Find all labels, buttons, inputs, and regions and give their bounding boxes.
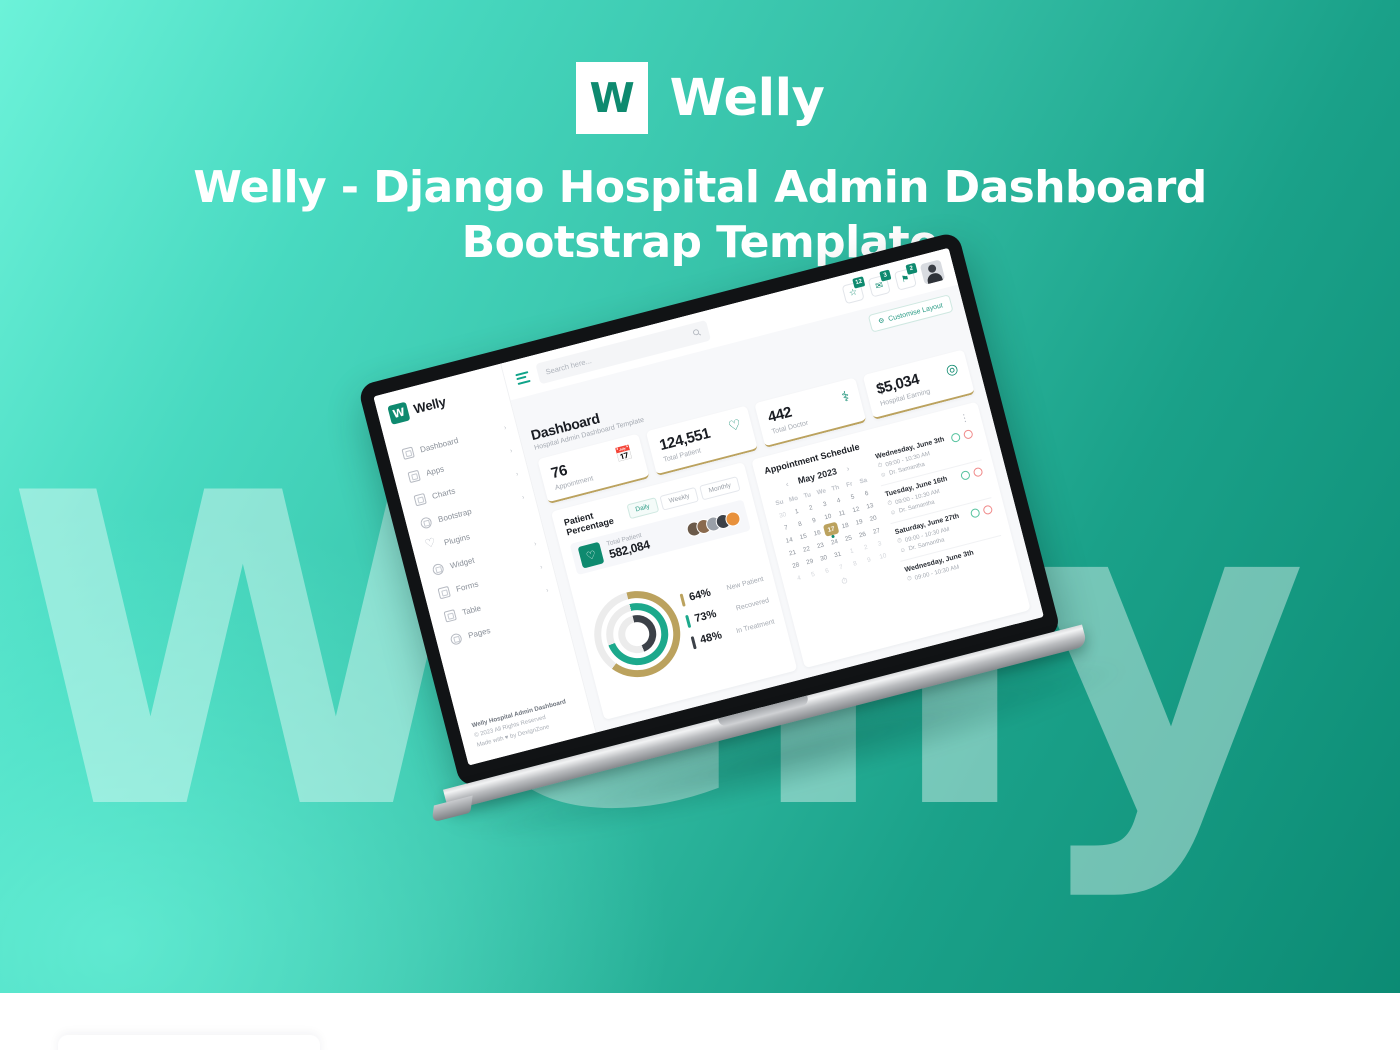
- search-placeholder: Search here...: [544, 356, 592, 377]
- chevron-left-icon[interactable]: ‹: [785, 479, 790, 488]
- chevron-right-icon: ›: [515, 471, 519, 478]
- clock-icon: ⏱: [877, 462, 883, 470]
- pages-icon: [450, 632, 463, 645]
- welly-logo-icon: W: [576, 62, 648, 134]
- calendar-day[interactable]: 4: [791, 570, 807, 585]
- tab-daily[interactable]: Daily: [626, 497, 659, 519]
- calendar-day[interactable]: 9: [861, 552, 877, 567]
- headline-line-2: Bootstrap Template: [0, 215, 1400, 270]
- chart-icon: [413, 493, 426, 506]
- bell-glyph: ☆: [848, 286, 859, 299]
- sidebar-item-label: Widget: [449, 556, 475, 571]
- chevron-right-icon: ›: [521, 494, 525, 501]
- donut-chart: [585, 582, 690, 687]
- calendar-day[interactable]: 5: [805, 567, 821, 582]
- patient-percentage-card: Patient Percentage Daily Weekly Monthly …: [551, 462, 797, 720]
- gift-icon[interactable]: ⚑ 2: [894, 267, 917, 290]
- user-icon: ☺: [890, 509, 897, 516]
- widget-icon: [431, 563, 444, 576]
- coins-icon: ◎: [944, 361, 959, 378]
- message-glyph: ✉: [874, 279, 884, 292]
- bell-icon[interactable]: ☆ 12: [841, 281, 864, 304]
- legend-value: 73%: [693, 608, 717, 625]
- avatar[interactable]: [920, 259, 946, 285]
- chevron-right-icon: ›: [509, 448, 513, 455]
- calendar-day[interactable]: 10: [875, 549, 891, 564]
- tab-weekly[interactable]: Weekly: [659, 486, 699, 510]
- sidebar-item-label: Pages: [467, 626, 491, 640]
- legend-label: Recovered: [735, 597, 770, 612]
- table-icon: [444, 609, 457, 622]
- sidebar-item-label: Bootstrap: [437, 507, 472, 524]
- legend-label: New Patient: [726, 575, 764, 591]
- sidebar-footer: Welly Hospital Admin Dashboard © 2023 Al…: [469, 695, 584, 753]
- logo-mark-letter: W: [590, 74, 634, 122]
- legend-swatch: [685, 614, 691, 627]
- appointment-schedule-card: Appointment Schedule ⋮ ‹ May 2023 ›: [751, 402, 1030, 669]
- chevron-right-icon: ›: [545, 587, 549, 594]
- search-icon: [692, 328, 702, 338]
- gift-glyph: ⚑: [900, 272, 911, 285]
- brand-logo: W Welly: [0, 62, 1400, 134]
- tab-monthly[interactable]: Monthly: [699, 476, 740, 500]
- chevron-right-icon: ›: [533, 541, 537, 548]
- brand-name: Welly: [670, 69, 825, 128]
- bootstrap-icon: [419, 516, 432, 529]
- sidebar-item-label: Plugins: [443, 532, 471, 547]
- sidebar-logo-icon: W: [387, 402, 410, 425]
- sidebar-brand-name: Welly: [412, 394, 447, 417]
- user-icon: ☺: [899, 547, 906, 554]
- headline-line-1: Welly - Django Hospital Admin Dashboard: [193, 162, 1206, 213]
- legend-label: In Treatment: [735, 618, 775, 635]
- avatar-body: [926, 271, 943, 283]
- page-title: Welly - Django Hospital Admin Dashboard …: [0, 160, 1400, 271]
- sidebar-item-label: Apps: [425, 464, 445, 477]
- heart-icon: ♡: [727, 417, 743, 434]
- heart-icon: [425, 539, 438, 552]
- calendar-day[interactable]: 7: [833, 559, 849, 574]
- clock-icon: ⏱: [907, 576, 913, 584]
- monitor-icon: [407, 470, 420, 483]
- heart-icon: ♡: [578, 542, 605, 569]
- sidebar-item-label: Dashboard: [419, 436, 459, 455]
- calendar-day[interactable]: 6: [819, 563, 835, 578]
- chevron-right-icon: ›: [503, 424, 507, 431]
- forms-icon: [438, 586, 451, 599]
- sidebar-item-label: Forms: [455, 579, 479, 593]
- sidebar-item-label: Charts: [431, 486, 456, 501]
- sidebar-item-label: Table: [461, 604, 482, 618]
- calendar-day[interactable]: 8: [847, 556, 863, 571]
- bell-badge: 12: [852, 276, 865, 288]
- bottom-card: [58, 1035, 320, 1050]
- hamburger-icon[interactable]: [515, 371, 530, 385]
- legend-swatch: [690, 636, 696, 649]
- stethoscope-icon: ⚕: [840, 389, 851, 404]
- sidebar-brand[interactable]: W Welly: [387, 379, 499, 425]
- chart-legend: 64% New Patient 73% Recovered: [679, 572, 776, 648]
- hero-background: Welly W Welly Welly - Django Hospital Ad…: [0, 0, 1400, 993]
- legend-value: 48%: [699, 629, 723, 646]
- message-icon[interactable]: ✉ 3: [868, 274, 891, 297]
- clock-icon: ⏱: [897, 538, 903, 546]
- chevron-right-icon: ›: [539, 564, 543, 571]
- message-badge: 3: [879, 269, 891, 281]
- chevron-right-icon[interactable]: ›: [845, 463, 850, 472]
- user-icon: ☺: [880, 472, 887, 479]
- grid-icon: [401, 446, 414, 459]
- calendar-icon: 📅: [614, 445, 634, 463]
- legend-value: 64%: [688, 587, 712, 604]
- patient-avatar-group[interactable]: [690, 509, 742, 536]
- gift-badge: 2: [905, 262, 917, 274]
- clock-icon: ⏱: [887, 500, 893, 508]
- legend-swatch: [679, 593, 685, 606]
- gear-icon: ⚙: [877, 316, 885, 325]
